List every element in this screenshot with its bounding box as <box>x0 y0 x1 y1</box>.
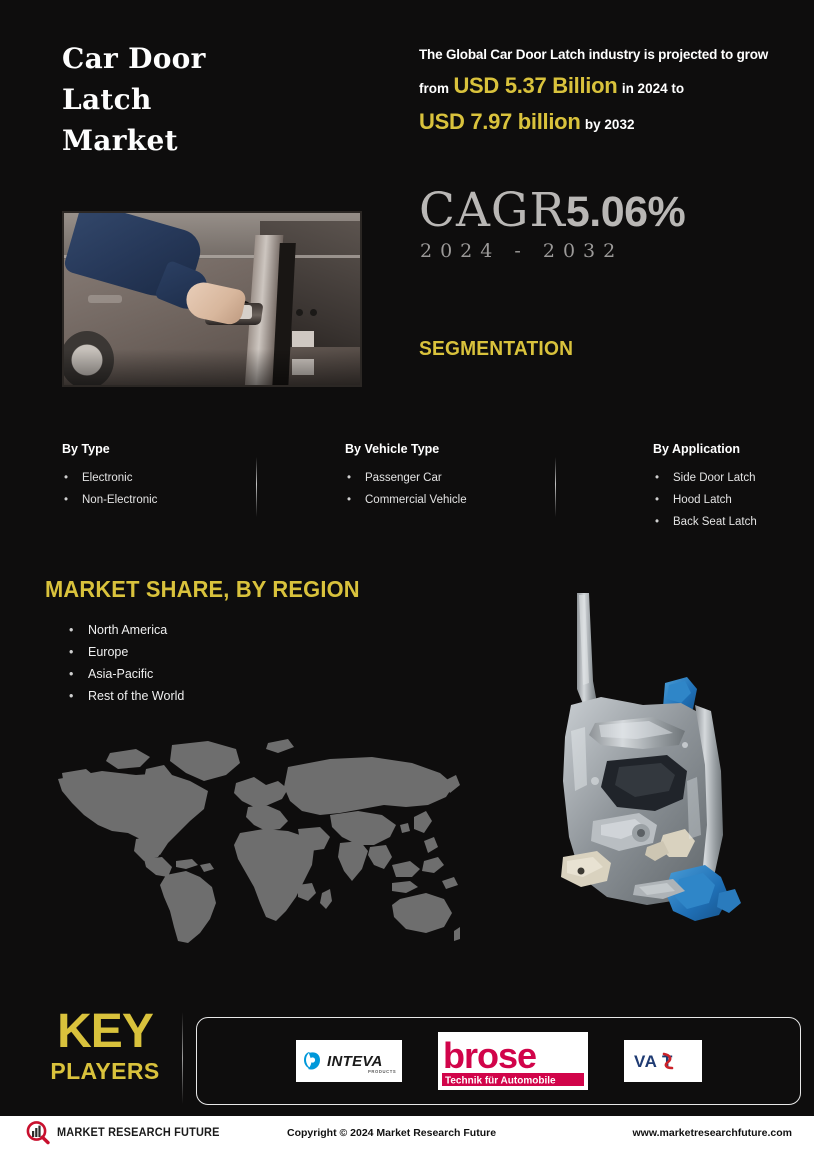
list-item: •North America <box>67 619 184 641</box>
car-door-handle-photo <box>62 211 362 387</box>
market-research-future-logo-icon <box>26 1121 50 1145</box>
page-title-line-1: Car Door <box>62 38 206 79</box>
svg-text:brose: brose <box>443 1035 536 1076</box>
bullet-icon: • <box>655 511 659 533</box>
list-item: •Europe <box>67 641 184 663</box>
footer-website[interactable]: www.marketresearchfuture.com <box>632 1127 792 1139</box>
infographic-poster: Car Door Latch Market The Global Car Doo… <box>0 0 814 1150</box>
bullet-icon: • <box>69 685 73 707</box>
world-map-icon <box>40 735 460 945</box>
vast-logo[interactable]: VA T <box>624 1040 702 1082</box>
list-item: •Rest of the World <box>67 685 184 707</box>
segmentation-column-by-type: By Type •Electronic •Non-Electronic <box>62 442 242 511</box>
segmentation-item: •Back Seat Latch <box>653 511 803 533</box>
footer: MARKET RESEARCH FUTURE Copyright © 2024 … <box>0 1116 814 1150</box>
headline-from-label: from <box>419 81 449 96</box>
bullet-icon: • <box>64 489 68 511</box>
region-list: •North America •Europe •Asia-Pacific •Re… <box>67 619 184 707</box>
segmentation-column-title: By Application <box>653 442 803 456</box>
bullet-icon: • <box>347 467 351 489</box>
key-players-label-top: KEY <box>30 1008 180 1056</box>
segmentation-item: •Non-Electronic <box>62 489 242 511</box>
segmentation-item: •Electronic <box>62 467 242 489</box>
segmentation-column-by-application: By Application •Side Door Latch •Hood La… <box>653 442 803 533</box>
cagr-block: CAGR5.06% <box>419 183 685 238</box>
segmentation-divider <box>555 457 556 517</box>
segmentation-column-title: By Vehicle Type <box>345 442 535 456</box>
car-door-latch-product-image <box>535 585 765 965</box>
page-title-line-2: Latch <box>62 79 206 120</box>
segmentation-item: •Hood Latch <box>653 489 803 511</box>
svg-text:PRODUCTS: PRODUCTS <box>368 1069 396 1074</box>
segmentation-heading: SEGMENTATION <box>419 338 573 361</box>
key-players-label-bottom: PLAYERS <box>30 1056 180 1086</box>
footer-brand: MARKET RESEARCH FUTURE <box>26 1121 228 1145</box>
market-share-region-heading: MARKET SHARE, BY REGION <box>45 576 360 603</box>
svg-text:INTEVA: INTEVA <box>327 1053 383 1070</box>
segmentation-item: •Side Door Latch <box>653 467 803 489</box>
key-players-label: KEY PLAYERS <box>30 1008 180 1086</box>
cagr-label: CAGR <box>419 183 566 238</box>
cagr-value: 5.06% <box>566 188 685 236</box>
list-item: •Asia-Pacific <box>67 663 184 685</box>
bullet-icon: • <box>347 489 351 511</box>
segmentation-divider <box>256 457 257 517</box>
page-title: Car Door Latch Market <box>62 38 206 161</box>
bullet-icon: • <box>69 641 73 663</box>
headline-lead: The Global Car Door Latch industry is pr… <box>419 45 797 65</box>
brose-logo[interactable]: brose Technik für Automobile <box>438 1032 588 1090</box>
headline-statement: The Global Car Door Latch industry is pr… <box>419 45 797 138</box>
key-players-logo-box: INTEVA PRODUCTS brose Technik für Automo… <box>196 1017 801 1105</box>
page-title-line-3: Market <box>62 120 206 161</box>
bullet-icon: • <box>655 489 659 511</box>
headline-value-2024: USD 5.37 Billion <box>453 73 617 98</box>
segmentation-column-title: By Type <box>62 442 242 456</box>
segmentation-item: •Passenger Car <box>345 467 535 489</box>
headline-in-label: in 2024 to <box>622 81 684 96</box>
segmentation-item: •Commercial Vehicle <box>345 489 535 511</box>
headline-by-label: by 2032 <box>585 117 635 132</box>
bullet-icon: • <box>69 619 73 641</box>
svg-text:Technik für Automobile: Technik für Automobile <box>445 1076 556 1087</box>
footer-copyright: Copyright © 2024 Market Research Future <box>287 1127 496 1139</box>
footer-brand-name: MARKET RESEARCH FUTURE <box>57 1127 220 1139</box>
bullet-icon: • <box>69 663 73 685</box>
key-players-divider <box>182 1012 183 1104</box>
headline-value-2032: USD 7.97 billion <box>419 109 580 134</box>
bullet-icon: • <box>655 467 659 489</box>
inteva-logo[interactable]: INTEVA PRODUCTS <box>296 1040 402 1082</box>
cagr-period: 2024 - 2032 <box>420 240 623 262</box>
segmentation-column-by-vehicle-type: By Vehicle Type •Passenger Car •Commerci… <box>345 442 535 511</box>
bullet-icon: • <box>64 467 68 489</box>
